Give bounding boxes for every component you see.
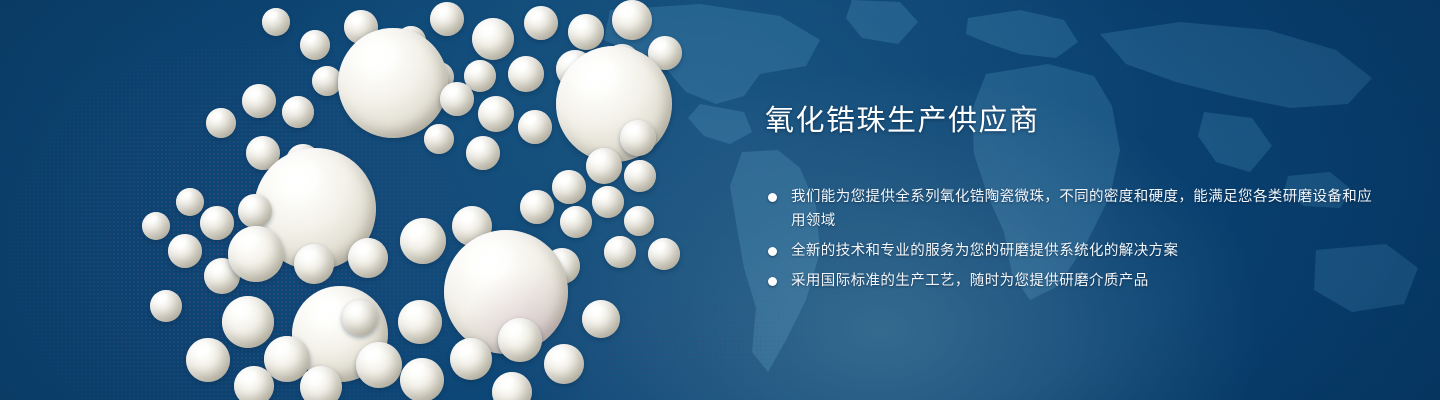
bullet-dot-icon xyxy=(768,247,777,256)
page-title: 氧化锆珠生产供应商 xyxy=(765,104,1385,139)
list-item-text: 我们能为您提供全系列氧化锆陶瓷微珠，不同的密度和硬度，能满足您各类研磨设备和应用… xyxy=(791,189,1372,229)
hero-banner: 氧化锆珠生产供应商 我们能为您提供全系列氧化锆陶瓷微珠，不同的密度和硬度，能满足… xyxy=(0,0,1440,400)
banner-copy: 氧化锆珠生产供应商 我们能为您提供全系列氧化锆陶瓷微珠，不同的密度和硬度，能满足… xyxy=(765,104,1385,299)
list-item-text: 采用国际标准的生产工艺，随时为您提供研磨介质产品 xyxy=(791,273,1149,289)
bullet-dot-icon xyxy=(768,277,777,286)
feature-list: 我们能为您提供全系列氧化锆陶瓷微珠，不同的密度和硬度，能满足您各类研磨设备和应用… xyxy=(765,185,1385,293)
bullet-dot-icon xyxy=(768,193,777,202)
list-item: 我们能为您提供全系列氧化锆陶瓷微珠，不同的密度和硬度，能满足您各类研磨设备和应用… xyxy=(765,185,1385,233)
list-item-text: 全新的技术和专业的服务为您的研磨提供系统化的解决方案 xyxy=(791,243,1178,259)
list-item: 采用国际标准的生产工艺，随时为您提供研磨介质产品 xyxy=(765,269,1385,293)
list-item: 全新的技术和专业的服务为您的研磨提供系统化的解决方案 xyxy=(765,239,1385,263)
